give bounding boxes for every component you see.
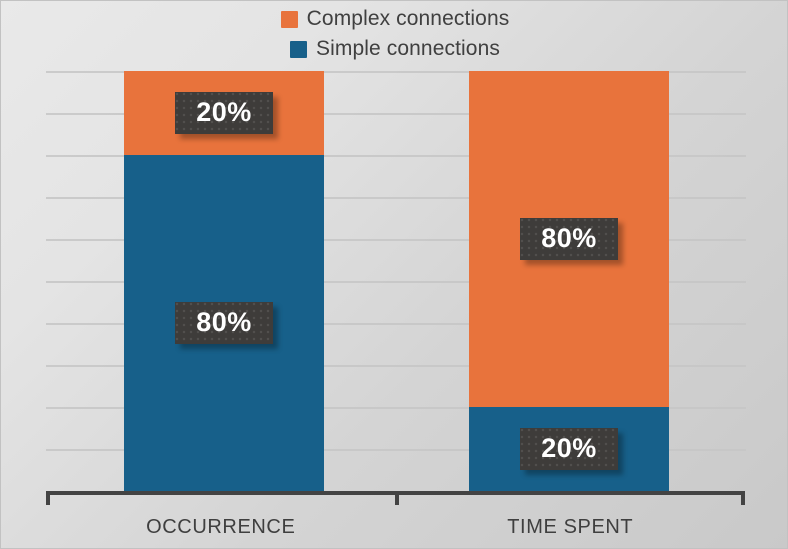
bar-column-occurrence: 20% 80% xyxy=(124,71,324,491)
bar-segment-occurrence-simple[interactable]: 80% xyxy=(124,155,324,491)
category-label-occurrence: OCCURRENCE xyxy=(46,506,396,548)
legend-label-complex: Complex connections xyxy=(307,7,510,31)
bar-column-time-spent: 80% 20% xyxy=(469,71,669,491)
legend-item-complex-connections[interactable]: Complex connections xyxy=(281,5,510,33)
bar-segment-occurrence-complex[interactable]: 20% xyxy=(124,71,324,155)
axis-tick-left xyxy=(46,491,50,505)
data-label-time-spent-complex: 80% xyxy=(520,218,618,260)
category-axis-labels: OCCURRENCE TIME SPENT xyxy=(46,506,745,548)
bar-segment-time-spent-complex[interactable]: 80% xyxy=(469,71,669,407)
plot-area: 20% 80% 80% 20% xyxy=(46,71,746,491)
axis-tick-middle xyxy=(395,491,399,505)
chart-legend: Complex connections Simple connections xyxy=(1,5,788,63)
bar-segment-time-spent-simple[interactable]: 20% xyxy=(469,407,669,491)
legend-swatch-simple-icon xyxy=(290,41,307,58)
axis-tick-right xyxy=(741,491,745,505)
data-label-time-spent-simple: 20% xyxy=(520,428,618,470)
legend-item-simple-connections[interactable]: Simple connections xyxy=(290,35,500,63)
category-label-time-spent: TIME SPENT xyxy=(396,506,746,548)
data-label-occurrence-complex: 20% xyxy=(175,92,273,134)
stacked-bar-chart: Complex connections Simple connections 2… xyxy=(0,0,788,549)
data-label-occurrence-simple: 80% xyxy=(175,302,273,344)
legend-label-simple: Simple connections xyxy=(316,37,500,61)
legend-swatch-complex-icon xyxy=(281,11,298,28)
